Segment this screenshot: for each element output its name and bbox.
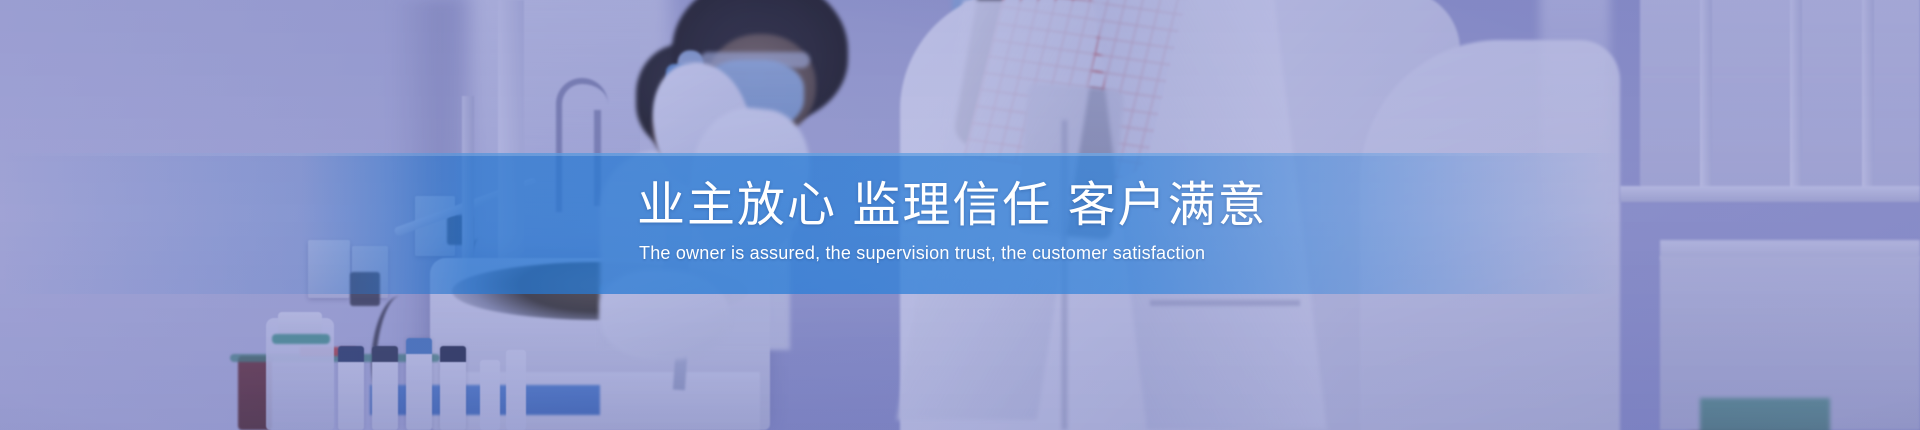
banner-text-block: 业主放心 监理信任 客户满意 The owner is assured, the… <box>0 153 1920 294</box>
banner-headline: 业主放心 监理信任 客户满意 <box>637 181 1268 232</box>
banner-subheadline: The owner is assured, the supervision tr… <box>639 242 1205 265</box>
hero-banner: 业主放心 监理信任 客户满意 The owner is assured, the… <box>0 0 1920 430</box>
